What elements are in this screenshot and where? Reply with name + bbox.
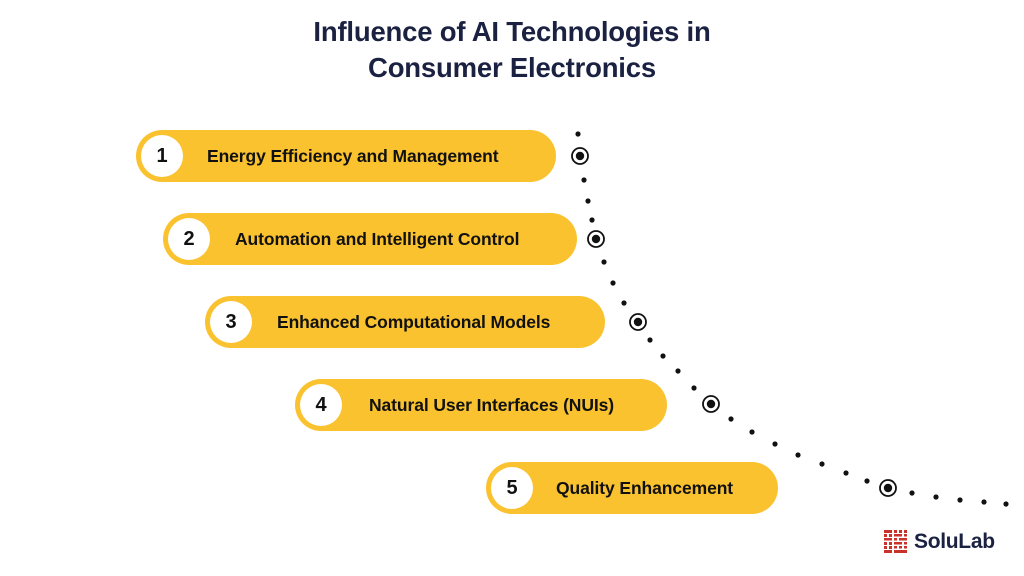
solulab-logo[interactable]: SoluLab bbox=[884, 530, 995, 553]
step-row: 3Enhanced Computational Models bbox=[0, 296, 1024, 348]
curve-dot bbox=[585, 198, 590, 203]
step-pill-5[interactable]: 5Quality Enhancement bbox=[486, 462, 778, 514]
step-pill-2[interactable]: 2Automation and Intelligent Control bbox=[163, 213, 577, 265]
step-label: Enhanced Computational Models bbox=[277, 296, 550, 348]
curve-dot bbox=[795, 452, 800, 457]
step-number-badge: 4 bbox=[300, 384, 342, 426]
step-number-badge: 1 bbox=[141, 135, 183, 177]
step-number-badge: 3 bbox=[210, 301, 252, 343]
step-label: Energy Efficiency and Management bbox=[207, 130, 498, 182]
step-label: Natural User Interfaces (NUIs) bbox=[369, 379, 614, 431]
step-pill-4[interactable]: 4Natural User Interfaces (NUIs) bbox=[295, 379, 667, 431]
solulab-wordmark: SoluLab bbox=[914, 531, 995, 552]
step-label: Quality Enhancement bbox=[556, 462, 733, 514]
step-number-badge: 5 bbox=[491, 467, 533, 509]
curve-dot bbox=[660, 353, 665, 358]
page-title: Influence of AI Technologies in Consumer… bbox=[0, 14, 1024, 86]
step-row: 2Automation and Intelligent Control bbox=[0, 213, 1024, 265]
step-row: 5Quality Enhancement bbox=[0, 462, 1024, 514]
step-label: Automation and Intelligent Control bbox=[235, 213, 519, 265]
step-pill-1[interactable]: 1Energy Efficiency and Management bbox=[136, 130, 556, 182]
step-row: 4Natural User Interfaces (NUIs) bbox=[0, 379, 1024, 431]
step-row: 1Energy Efficiency and Management bbox=[0, 130, 1024, 182]
curve-dot bbox=[772, 441, 777, 446]
solulab-grid-mark-icon bbox=[884, 530, 907, 553]
step-pill-3[interactable]: 3Enhanced Computational Models bbox=[205, 296, 605, 348]
curve-dot bbox=[610, 280, 615, 285]
infographic-canvas: Influence of AI Technologies in Consumer… bbox=[0, 0, 1024, 576]
step-number-badge: 2 bbox=[168, 218, 210, 260]
curve-dot bbox=[675, 368, 680, 373]
title-line-2: Consumer Electronics bbox=[0, 50, 1024, 86]
title-line-1: Influence of AI Technologies in bbox=[0, 14, 1024, 50]
